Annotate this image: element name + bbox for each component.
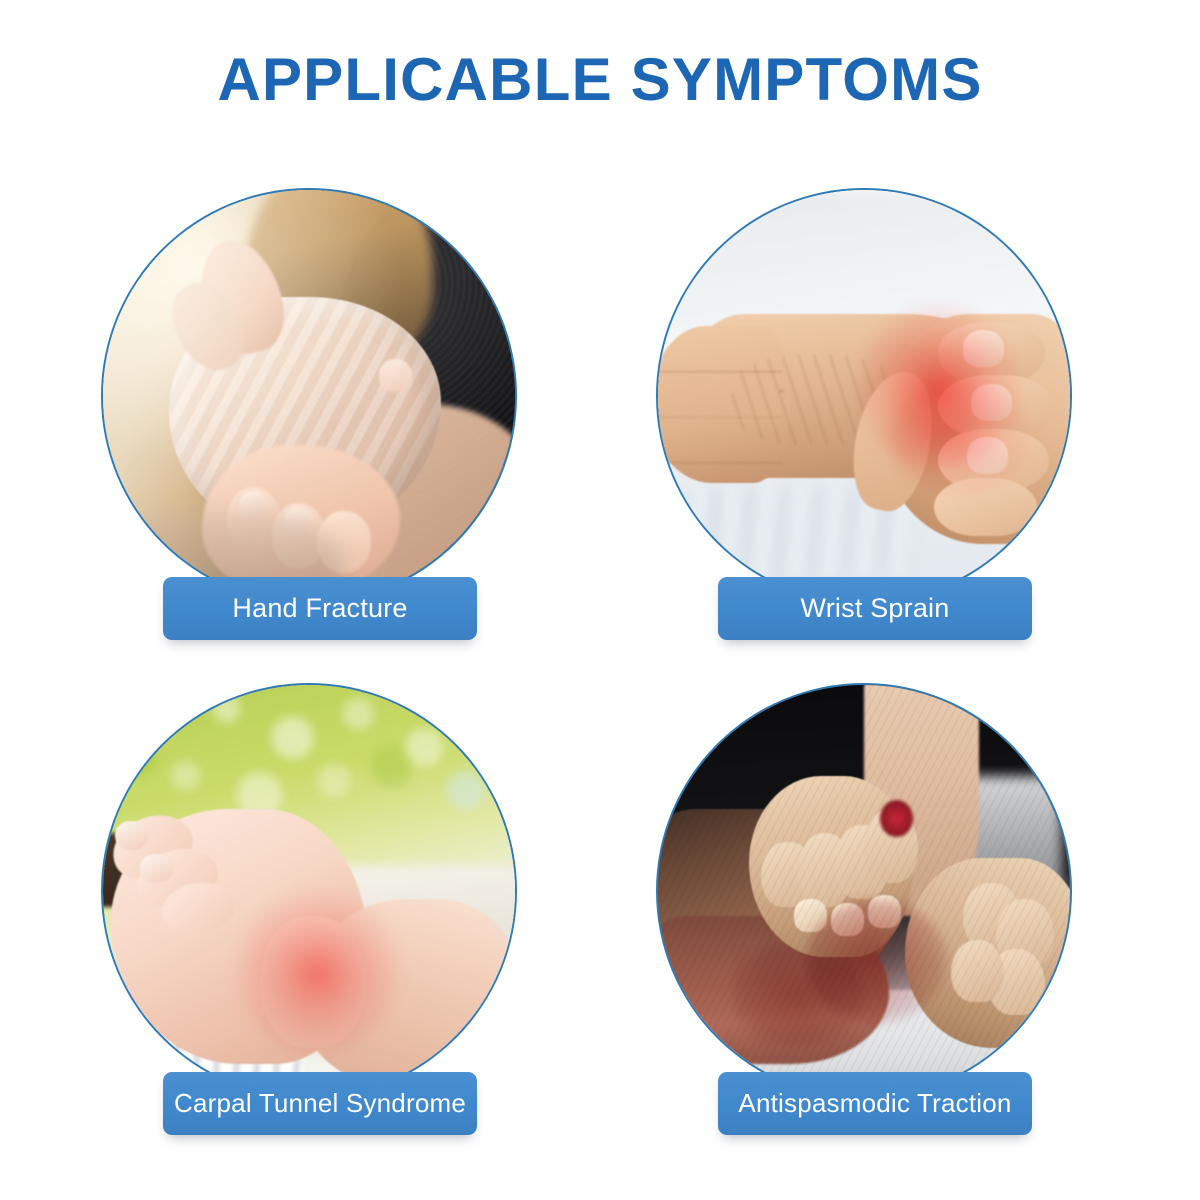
fingernail-layer — [115, 821, 148, 850]
symptom-label-hand-fracture[interactable]: Hand Fracture — [163, 577, 477, 640]
photo-antispasmodic-traction-inner — [658, 685, 1070, 1097]
photo-hand-fracture — [103, 190, 515, 602]
photo-carpal-tunnel-inner — [103, 685, 515, 1097]
photo-wrist-sprain — [658, 190, 1070, 602]
symptom-card-carpal-tunnel-syndrome: Carpal Tunnel Syndrome — [55, 670, 615, 1150]
photo-carpal-tunnel-syndrome — [103, 685, 515, 1097]
symptom-card-hand-fracture: Hand Fracture — [55, 175, 615, 655]
white-backdrop-layer — [658, 190, 1070, 330]
symptom-label-antispasmodic-traction[interactable]: Antispasmodic Traction — [718, 1072, 1032, 1135]
pain-highlight-layer — [889, 380, 1029, 495]
skin-texture-layer — [658, 685, 1070, 1097]
symptom-label-carpal-tunnel-syndrome[interactable]: Carpal Tunnel Syndrome — [163, 1072, 477, 1135]
symptom-card-wrist-sprain: Wrist Sprain — [610, 175, 1170, 655]
symptom-label-wrist-sprain[interactable]: Wrist Sprain — [718, 577, 1032, 640]
finger-crease-layer — [666, 462, 781, 464]
infographic-page: APPLICABLE SYMPTOMS — [0, 0, 1200, 1200]
pain-highlight-layer — [235, 891, 400, 1056]
photo-antispasmodic-traction — [658, 685, 1070, 1097]
symptom-grid: Hand Fracture — [0, 170, 1200, 1180]
photo-wrist-sprain-inner — [658, 190, 1070, 602]
symptom-card-antispasmodic-traction: Antispasmodic Traction — [610, 670, 1170, 1150]
photo-hand-fracture-inner — [103, 190, 515, 602]
page-title: APPLICABLE SYMPTOMS — [0, 44, 1200, 116]
sunlight-glow-layer — [103, 190, 515, 602]
fingernail-layer — [140, 854, 173, 883]
